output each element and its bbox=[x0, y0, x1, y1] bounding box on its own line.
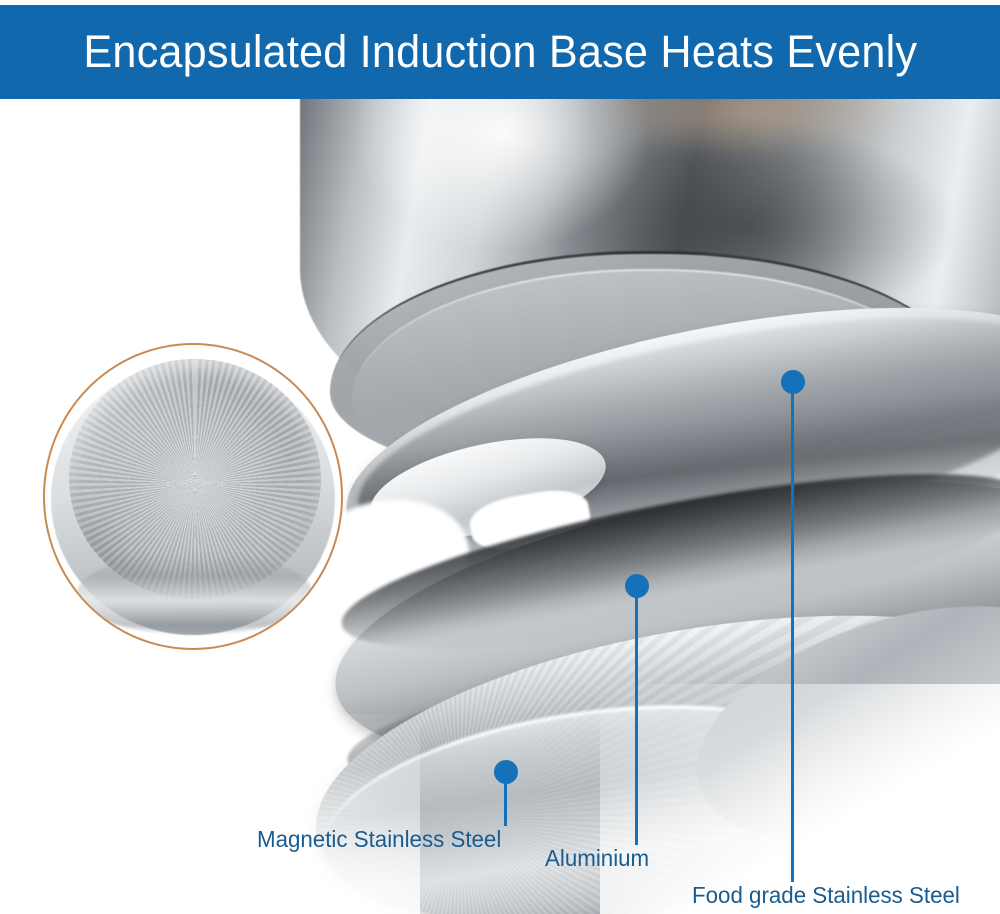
callout-line-food-grade-stainless-steel bbox=[791, 382, 794, 882]
banner-title: Encapsulated Induction Base Heats Evenly bbox=[83, 26, 917, 78]
callout-label-aluminium: Aluminium bbox=[545, 845, 649, 872]
callout-line-magnetic-stainless-steel bbox=[504, 772, 507, 826]
callout-line-aluminium bbox=[635, 586, 638, 845]
inset-disc-foot bbox=[77, 553, 313, 635]
callout-label-food-grade-stainless-steel: Food grade Stainless Steel bbox=[692, 882, 960, 909]
induction-base-inset bbox=[45, 345, 341, 648]
product-feature-image: Encapsulated Induction Base Heats Evenly… bbox=[0, 0, 1000, 914]
header-banner: Encapsulated Induction Base Heats Evenly bbox=[0, 5, 1000, 99]
photo-fade-bottom-left bbox=[0, 714, 420, 914]
pot-highlight-glow bbox=[520, 99, 980, 207]
photo-fade-bottom-right bbox=[600, 684, 1000, 914]
callout-label-magnetic-stainless-steel: Magnetic Stainless Steel bbox=[257, 826, 501, 853]
